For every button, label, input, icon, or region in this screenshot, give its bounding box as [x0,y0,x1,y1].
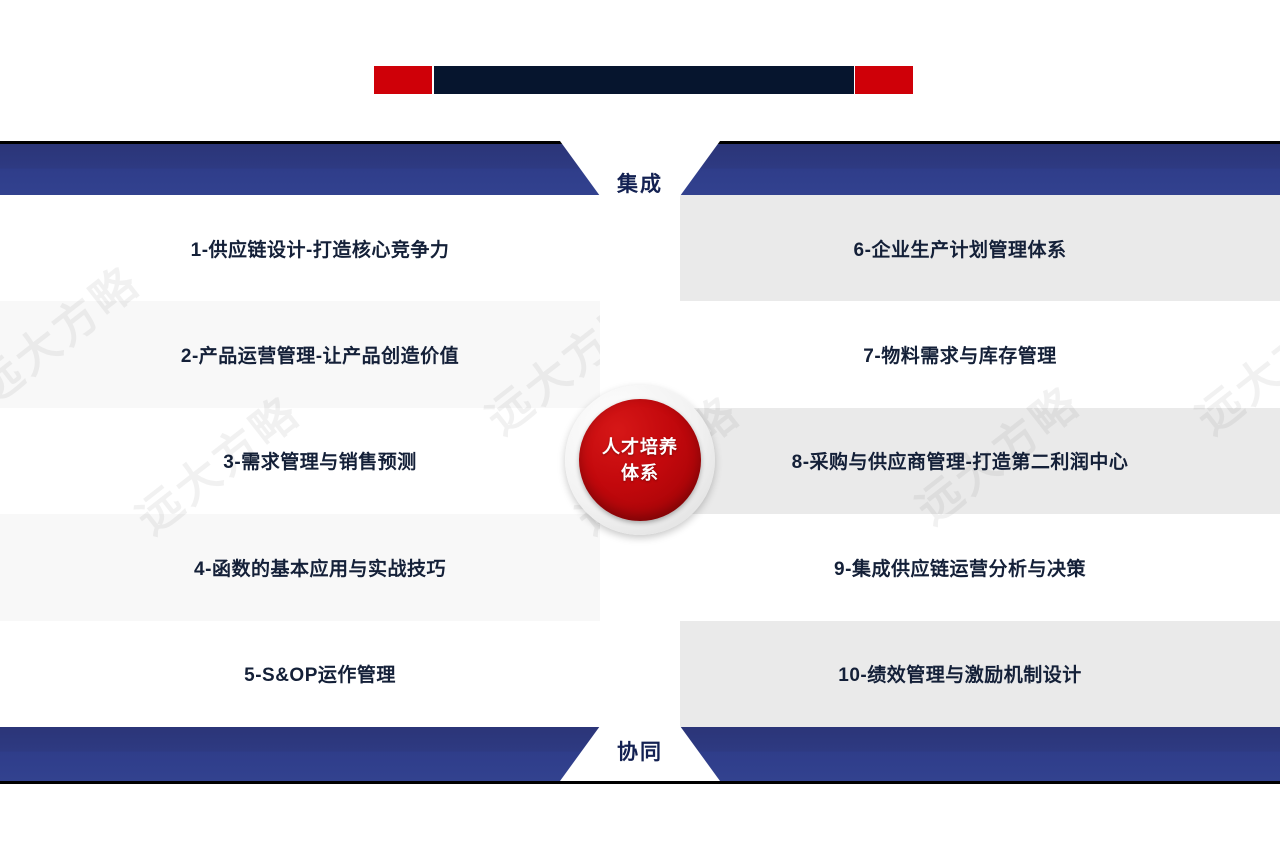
badge-line-2: 体系 [621,460,659,486]
redacted-title-block [440,66,840,94]
module-cell-left-1[interactable]: 1-供应链设计-打造核心竞争力 [0,195,640,301]
module-label: 8-采购与供应商管理-打造第二利润中心 [792,447,1129,474]
title-accent-right [855,66,913,94]
module-cell-left-4[interactable]: 4-函数的基本应用与实战技巧 [0,514,640,620]
module-label: 6-企业生产计划管理体系 [854,235,1067,262]
center-badge[interactable]: 人才培养 体系 [565,385,715,535]
module-cell-right-1[interactable]: 6-企业生产计划管理体系 [640,195,1280,301]
module-label: 2-产品运营管理-让产品创造价值 [181,341,459,368]
badge-line-1: 人才培养 [602,434,678,460]
module-cell-right-3[interactable]: 8-采购与供应商管理-打造第二利润中心 [640,408,1280,514]
module-label: 10-绩效管理与激励机制设计 [838,660,1081,687]
module-label: 7-物料需求与库存管理 [863,341,1056,368]
module-cell-left-3[interactable]: 3-需求管理与销售预测 [0,408,640,514]
badge-core: 人才培养 体系 [579,399,701,521]
module-label: 3-需求管理与销售预测 [223,447,416,474]
top-banner-label: 集成 [560,168,720,198]
module-cell-right-5[interactable]: 10-绩效管理与激励机制设计 [640,621,1280,727]
title-accent-left [374,66,432,94]
module-label: 9-集成供应链运营分析与决策 [834,554,1086,581]
redaction-nub-right [840,66,854,94]
module-cell-right-4[interactable]: 9-集成供应链运营分析与决策 [640,514,1280,620]
bottom-banner-label: 协同 [560,736,720,766]
module-cell-right-2[interactable]: 7-物料需求与库存管理 [640,301,1280,407]
module-label: 1-供应链设计-打造核心竞争力 [191,235,450,262]
module-label: 5-S&OP运作管理 [244,660,396,687]
slide-canvas: 1-供应链设计-打造核心竞争力 6-企业生产计划管理体系 2-产品运营管理-让产… [0,0,1280,850]
module-cell-left-5[interactable]: 5-S&OP运作管理 [0,621,640,727]
module-label: 4-函数的基本应用与实战技巧 [194,554,446,581]
module-cell-left-2[interactable]: 2-产品运营管理-让产品创造价值 [0,301,640,407]
title-bar [0,60,1280,104]
